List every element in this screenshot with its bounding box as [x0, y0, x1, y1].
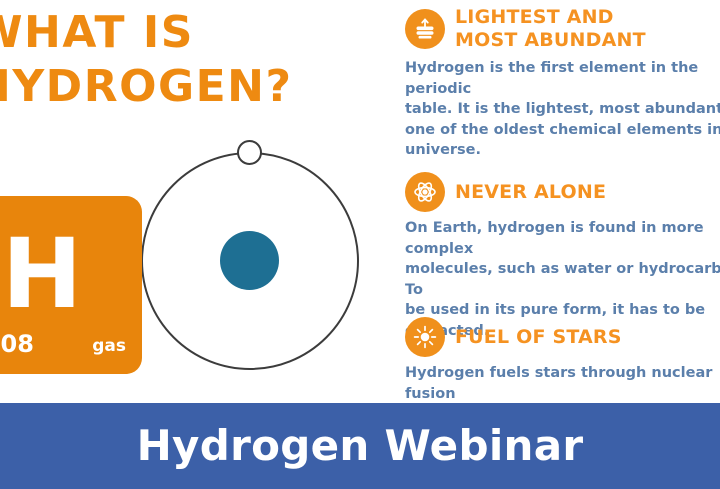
- fact-header: FUEL OF STARS: [405, 317, 720, 357]
- infographic-page: WHAT IS HYDROGEN? 1 H 1.008 gas: [0, 0, 720, 489]
- left-panel: WHAT IS HYDROGEN? 1 H 1.008 gas: [0, 0, 400, 405]
- periodic-element-card: 1 H 1.008 gas: [0, 196, 142, 374]
- feather-icon: [405, 9, 445, 49]
- atom-diagram: [141, 152, 365, 376]
- fact-item-fuel-of-stars: FUEL OF STARS Hydrogen fuels stars throu…: [405, 317, 720, 405]
- banner-title: Hydrogen Webinar: [137, 422, 584, 470]
- atom-icon: [405, 172, 445, 212]
- fact-item-never-alone: NEVER ALONE On Earth, hydrogen is found …: [405, 172, 720, 341]
- page-title: WHAT IS HYDROGEN?: [0, 6, 394, 114]
- sun-icon: [405, 317, 445, 357]
- atomic-mass: 1.008: [0, 330, 34, 358]
- fact-header: LIGHTEST AND MOST ABUNDANT: [405, 6, 720, 52]
- facts-panel: LIGHTEST AND MOST ABUNDANT Hydrogen is t…: [405, 0, 720, 405]
- title-line-2: HYDROGEN?: [0, 60, 394, 114]
- fact-title: LIGHTEST AND MOST ABUNDANT: [455, 6, 646, 52]
- fact-body: Hydrogen is the first element in the per…: [405, 58, 720, 161]
- fact-body: Hydrogen fuels stars through nuclear fus…: [405, 363, 720, 405]
- fact-header: NEVER ALONE: [405, 172, 720, 212]
- bottom-banner: Hydrogen Webinar: [0, 403, 720, 489]
- fact-title: NEVER ALONE: [455, 181, 606, 204]
- element-state: gas: [92, 336, 126, 356]
- fact-title: FUEL OF STARS: [455, 326, 622, 349]
- fact-item-lightest-and-most-abundant: LIGHTEST AND MOST ABUNDANT Hydrogen is t…: [405, 6, 720, 161]
- element-symbol: H: [0, 224, 142, 324]
- electron-icon: [237, 140, 262, 165]
- nucleus-icon: [220, 231, 279, 290]
- title-line-1: WHAT IS: [0, 6, 394, 60]
